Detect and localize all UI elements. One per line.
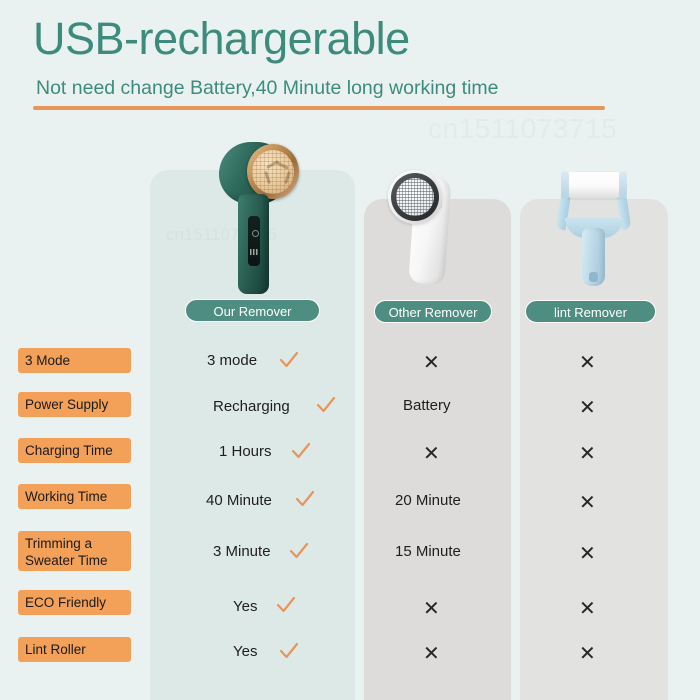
feature-label-line-1: Trimming a — [25, 535, 108, 552]
cross-icon: ✕ — [423, 598, 440, 618]
cross-icon: ✕ — [423, 352, 440, 372]
cell-our-eco-friendly: Yes — [233, 598, 257, 615]
feature-label-lint-roller: Lint Roller — [18, 637, 131, 662]
column-header-our-remover[interactable]: Our Remover — [185, 299, 320, 322]
cell-other-power-supply: Battery — [403, 397, 451, 414]
feature-label-working-time: Working Time — [18, 484, 131, 509]
check-icon — [288, 541, 310, 561]
white-device-dark-collar — [391, 173, 439, 221]
cross-icon: ✕ — [579, 598, 596, 618]
cell-our-trimming-time: 3 Minute — [213, 543, 271, 560]
check-icon — [294, 489, 316, 509]
roller-handle-tip — [589, 272, 598, 282]
infographic-page: USB-rechargerable Not need change Batter… — [0, 0, 700, 700]
cell-our-power-supply: Recharging — [213, 398, 290, 415]
cross-icon: ✕ — [579, 543, 596, 563]
battery-level-indicator — [250, 249, 258, 255]
cell-our-charging-time: 1 Hours — [219, 443, 272, 460]
feature-label-charging-time: Charging Time — [18, 438, 131, 463]
feature-label-eco-friendly: ECO Friendly — [18, 590, 131, 615]
cross-icon: ✕ — [579, 397, 596, 417]
cell-other-working-time: 20 Minute — [395, 492, 461, 509]
mesh-slot — [276, 161, 289, 170]
mesh-slot — [264, 170, 271, 183]
roller-cap-right — [619, 171, 627, 199]
white-device-ring — [388, 170, 442, 224]
page-subtitle: Not need change Battery,40 Minute long w… — [36, 76, 499, 100]
check-icon — [278, 350, 300, 370]
check-icon — [275, 595, 297, 615]
green-device-handle — [238, 194, 269, 294]
cross-icon: ✕ — [579, 643, 596, 663]
cell-our-3-mode: 3 mode — [207, 352, 257, 369]
blue-lint-roller-image — [548, 168, 640, 288]
column-header-lint-remover[interactable]: lint Remover — [525, 300, 656, 323]
cross-icon: ✕ — [579, 492, 596, 512]
white-lint-remover-image — [388, 170, 460, 286]
cell-our-lint-roller: Yes — [233, 643, 257, 660]
cross-icon: ✕ — [423, 643, 440, 663]
feature-label-line-2: Sweater Time — [25, 552, 108, 569]
green-device-mesh-screen — [252, 150, 294, 194]
check-icon — [315, 395, 337, 415]
mesh-slot — [284, 170, 291, 183]
roller-cap-left — [561, 171, 569, 199]
feature-label-trimming-sweater-time: Trimming a Sweater Time — [18, 531, 131, 571]
feature-label-power-supply: Power Supply — [18, 392, 131, 417]
check-icon — [290, 441, 312, 461]
cell-other-trimming-time: 15 Minute — [395, 543, 461, 560]
green-lint-remover-image — [211, 142, 301, 294]
power-button-icon — [252, 230, 259, 237]
watermark-text: cn1511073715 — [428, 112, 617, 146]
roller-handle — [582, 228, 605, 286]
column-header-other-remover[interactable]: Other Remover — [374, 300, 492, 323]
feature-label-3-mode: 3 Mode — [18, 348, 131, 373]
header-divider — [33, 106, 605, 110]
cell-our-working-time: 40 Minute — [206, 492, 272, 509]
cross-icon: ✕ — [579, 352, 596, 372]
page-title: USB-rechargerable — [33, 13, 410, 65]
white-device-mesh-screen — [396, 178, 434, 216]
cross-icon: ✕ — [579, 443, 596, 463]
check-icon — [278, 641, 300, 661]
cross-icon: ✕ — [423, 443, 440, 463]
roller-barrel — [566, 172, 622, 198]
green-device-gold-ring — [247, 144, 299, 199]
green-device-display-panel — [248, 216, 260, 266]
